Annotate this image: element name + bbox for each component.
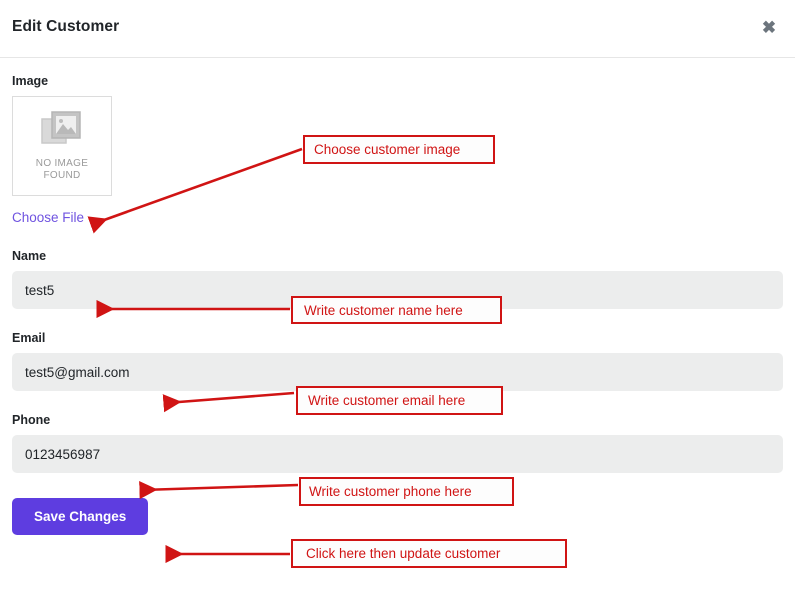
email-input[interactable] bbox=[12, 353, 783, 391]
photo-stack-icon bbox=[41, 110, 83, 153]
no-image-line-1: NO IMAGE bbox=[36, 158, 88, 170]
name-label: Name bbox=[12, 249, 783, 263]
choose-file-link[interactable]: Choose File bbox=[12, 210, 84, 225]
name-field-group: Name bbox=[12, 249, 783, 309]
page-title: Edit Customer bbox=[12, 18, 119, 36]
no-image-text: NO IMAGE FOUND bbox=[36, 158, 88, 182]
modal-header: Edit Customer ✖ bbox=[0, 0, 795, 58]
email-label: Email bbox=[12, 331, 783, 345]
annotation-save: Click here then update customer bbox=[291, 539, 567, 568]
phone-label: Phone bbox=[12, 413, 783, 427]
email-field-group: Email bbox=[12, 331, 783, 391]
phone-input[interactable] bbox=[12, 435, 783, 473]
no-image-line-2: FOUND bbox=[36, 170, 88, 182]
name-input[interactable] bbox=[12, 271, 783, 309]
save-changes-button[interactable]: Save Changes bbox=[12, 498, 148, 535]
phone-field-group: Phone bbox=[12, 413, 783, 473]
image-label: Image bbox=[12, 74, 783, 88]
image-field-group: Image NO IMAGE FOUND Choose File bbox=[12, 74, 783, 227]
edit-customer-form: Image NO IMAGE FOUND Choose File Name bbox=[0, 58, 795, 535]
close-icon[interactable]: ✖ bbox=[757, 16, 781, 40]
customer-image-preview: NO IMAGE FOUND bbox=[12, 96, 112, 196]
